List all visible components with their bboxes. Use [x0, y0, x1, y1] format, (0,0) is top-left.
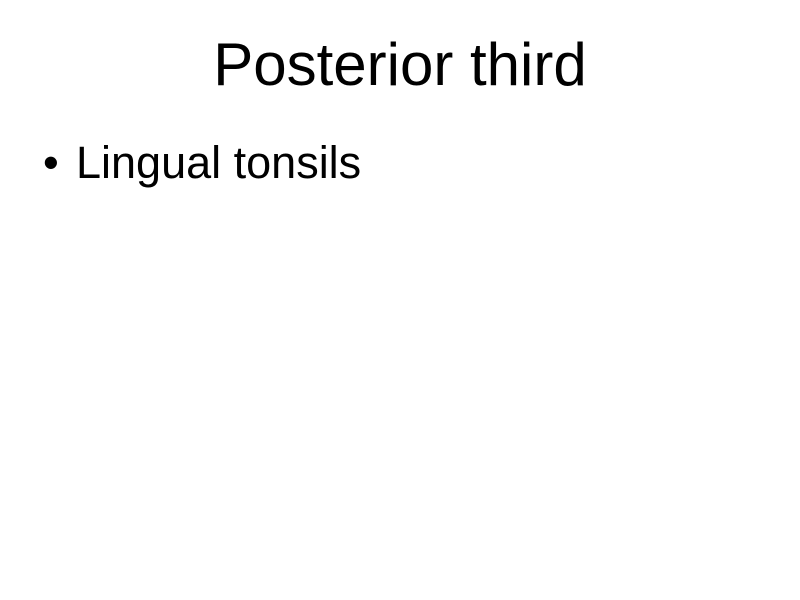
list-item: • Lingual tonsils	[40, 137, 760, 189]
slide-canvas: Posterior third • Lingual tonsils	[0, 0, 800, 600]
bullet-list: • Lingual tonsils	[40, 137, 760, 189]
list-item-label: Lingual tonsils	[76, 137, 361, 189]
bullet-point-icon: •	[40, 137, 76, 189]
page-title: Posterior third	[0, 32, 800, 98]
